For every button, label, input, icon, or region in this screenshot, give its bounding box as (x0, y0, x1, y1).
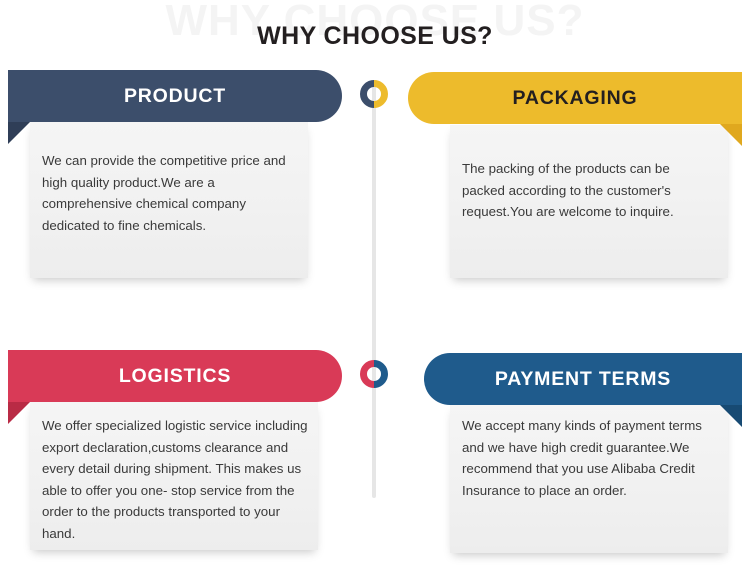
bottom-ring-left-half (360, 360, 374, 388)
packaging-fold-corner (720, 124, 742, 146)
page-title: WHY CHOOSE US? WHY CHOOSE US? (0, 0, 750, 62)
payment-terms-body-text: We accept many kinds of payment terms an… (462, 415, 718, 501)
title-text: WHY CHOOSE US? (0, 22, 750, 51)
top-ring-icon (360, 80, 388, 108)
logistics-banner: LOGISTICS (8, 350, 342, 402)
logistics-banner-label: LOGISTICS (119, 365, 231, 387)
packaging-body-text: The packing of the products can be packe… (462, 158, 712, 223)
payment-terms-banner: PAYMENT TERMS (424, 353, 742, 405)
bottom-ring-icon (360, 360, 388, 388)
product-body-text: We can provide the competitive price and… (42, 150, 296, 236)
product-banner-label: PRODUCT (124, 85, 226, 107)
top-ring-left-half (360, 80, 374, 108)
top-ring-right-half (374, 80, 388, 108)
logistics-fold-corner (8, 402, 30, 424)
payment-terms-banner-label: PAYMENT TERMS (495, 368, 671, 390)
logistics-body-text: We offer specialized logistic service in… (42, 415, 308, 544)
bottom-ring-right-half (374, 360, 388, 388)
connector-line (372, 86, 376, 498)
product-fold-corner (8, 122, 30, 144)
payment-terms-fold-corner (720, 405, 742, 427)
product-banner: PRODUCT (8, 70, 342, 122)
infographic-canvas: WHY CHOOSE US? WHY CHOOSE US? We can pro… (0, 0, 750, 573)
packaging-banner-label: PACKAGING (513, 87, 638, 109)
packaging-banner: PACKAGING (408, 72, 742, 124)
